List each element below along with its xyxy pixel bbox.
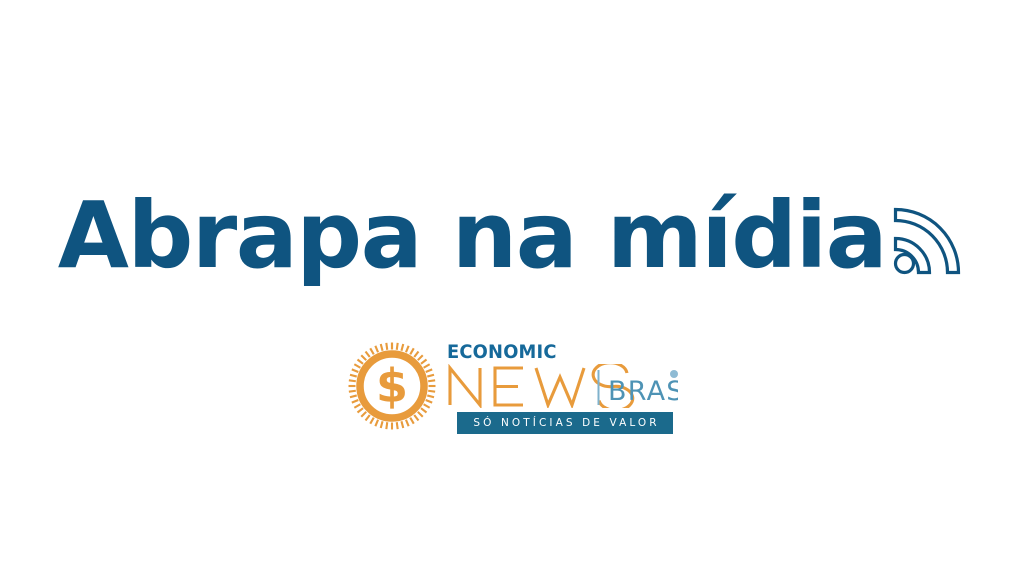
logo-tagline-text: SÓ NOTÍCIAS DE VALOR xyxy=(470,417,659,429)
slide-canvas: Abrapa na mídia xyxy=(0,0,1024,569)
headline: Abrapa na mídia xyxy=(0,186,1024,285)
logo-economic-text: ECONOMIC xyxy=(447,343,557,362)
dollar-coin-icon: $ xyxy=(346,340,438,437)
rss-icon xyxy=(888,202,966,285)
logo-lockup: $ ECONOMIC xyxy=(0,340,1024,437)
svg-text:BRASIL: BRASIL xyxy=(608,376,678,407)
headline-text: Abrapa na mídia xyxy=(58,190,886,282)
logo-news-row: BRASIL xyxy=(446,364,678,408)
logo-tagline-bar: SÓ NOTÍCIAS DE VALOR xyxy=(457,412,673,434)
svg-text:$: $ xyxy=(376,359,408,413)
